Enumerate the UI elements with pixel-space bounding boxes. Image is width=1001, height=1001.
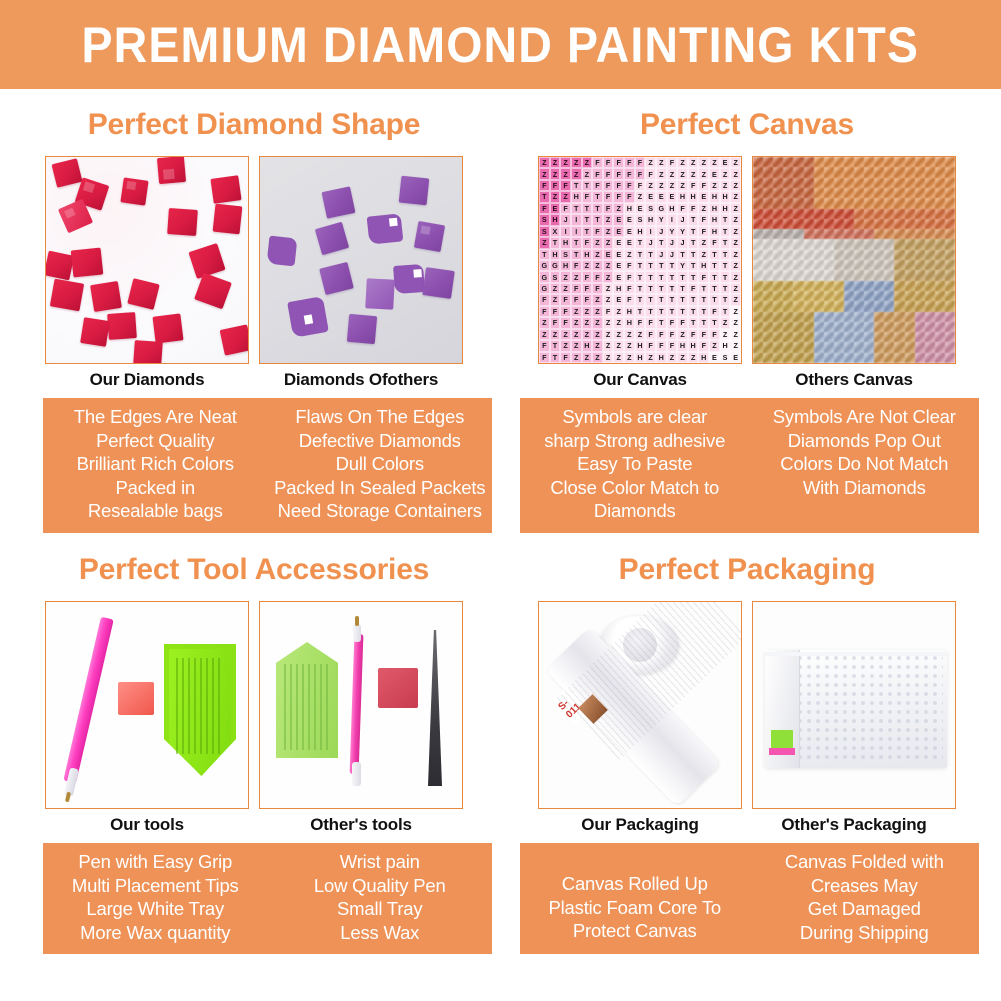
canvas-symbol-cell: Z bbox=[582, 317, 593, 328]
canvas-symbol-cell: Z bbox=[603, 317, 614, 328]
mosaic-cell bbox=[854, 332, 864, 342]
mosaic-cell bbox=[814, 178, 824, 188]
mosaic-cell bbox=[824, 239, 834, 249]
canvas-symbol-cell: S bbox=[539, 226, 550, 237]
mosaic-cell bbox=[763, 209, 773, 219]
mosaic-cell bbox=[814, 250, 824, 260]
mosaic-cell bbox=[905, 209, 915, 219]
canvas-symbol-cell: T bbox=[635, 306, 646, 317]
mosaic-cell bbox=[854, 260, 864, 270]
rolled-tube-art: S-011 bbox=[539, 602, 741, 808]
mosaic-cell bbox=[763, 178, 773, 188]
pen-upper-tip bbox=[353, 624, 361, 642]
mosaic-cell bbox=[793, 209, 803, 219]
mosaic-cell bbox=[824, 167, 834, 177]
mosaic-cell bbox=[763, 291, 773, 301]
canvas-symbol-cell: T bbox=[656, 237, 667, 248]
canvas-symbol-cell: Z bbox=[592, 237, 603, 248]
canvas-symbol-cell: F bbox=[582, 283, 593, 294]
canvas-symbol-cell: T bbox=[709, 317, 720, 328]
canvas-symbol-cell: F bbox=[592, 226, 603, 237]
canvas-symbol-cell: T bbox=[667, 260, 678, 271]
canvas-symbol-cell: F bbox=[698, 329, 709, 340]
canvas-symbol-cell: F bbox=[709, 306, 720, 317]
canvas-symbol-cell: H bbox=[698, 260, 709, 271]
mosaic-cell bbox=[935, 250, 945, 260]
mosaic-cell bbox=[763, 250, 773, 260]
mosaic-cell bbox=[804, 198, 814, 208]
canvas-symbol-cell: J bbox=[667, 237, 678, 248]
mosaic-cell bbox=[915, 167, 925, 177]
canvas-symbol-cell: F bbox=[656, 329, 667, 340]
mosaic-cell bbox=[804, 178, 814, 188]
canvas-symbol-cell: Z bbox=[698, 249, 709, 260]
mosaic-cell bbox=[793, 157, 803, 167]
canvas-symbol-cell: Z bbox=[560, 157, 571, 168]
mosaic-cell bbox=[864, 188, 874, 198]
mosaic-cell bbox=[834, 198, 844, 208]
canvas-symbol-cell: T bbox=[698, 306, 709, 317]
mosaic-cell bbox=[773, 209, 783, 219]
canvas-symbol-cell: Z bbox=[730, 237, 741, 248]
canvas-symbol-cell: Z bbox=[603, 260, 614, 271]
mosaic-cell bbox=[793, 270, 803, 280]
mosaic-cell bbox=[864, 239, 874, 249]
mosaic-cell bbox=[925, 301, 935, 311]
canvas-symbol-cell: Z bbox=[720, 180, 731, 191]
mosaic-cell bbox=[814, 312, 824, 322]
canvas-symbol-cell: J bbox=[677, 237, 688, 248]
canvas-symbol-cell: Z bbox=[603, 283, 614, 294]
canvas-symbol-cell: F bbox=[571, 260, 582, 271]
mosaic-cell bbox=[884, 188, 894, 198]
canvas-symbol-cell: T bbox=[720, 226, 731, 237]
mosaic-cell bbox=[834, 250, 844, 260]
canvas-symbol-cell: Y bbox=[667, 226, 678, 237]
panel-others-points: Canvas Folded withCreases MayGet Damaged… bbox=[750, 850, 980, 944]
canvas-symbol-cell: E bbox=[624, 214, 635, 225]
mosaic-cell bbox=[905, 198, 915, 208]
mosaic-cell bbox=[834, 188, 844, 198]
mosaic-cell bbox=[804, 301, 814, 311]
blurry-mosaic-art bbox=[753, 157, 955, 363]
mosaic-cell bbox=[773, 353, 783, 363]
canvas-symbol-cell: E bbox=[603, 249, 614, 260]
canvas-symbol-cell: Z bbox=[603, 340, 614, 351]
mosaic-cell bbox=[763, 188, 773, 198]
pen-metal-tip bbox=[355, 616, 359, 626]
image-others-diamonds bbox=[259, 156, 463, 364]
canvas-symbol-cell: E bbox=[613, 214, 624, 225]
canvas-symbol-cell: Z bbox=[635, 329, 646, 340]
canvas-symbol-cell: Z bbox=[582, 329, 593, 340]
mosaic-cell bbox=[864, 322, 874, 332]
canvas-symbol-cell: F bbox=[582, 271, 593, 282]
mosaic-cell bbox=[753, 322, 763, 332]
panel-point: Need Storage Containers bbox=[271, 499, 490, 523]
mosaic-cell bbox=[884, 322, 894, 332]
mosaic-cell bbox=[874, 260, 884, 270]
canvas-symbol-cell: H bbox=[582, 249, 593, 260]
canvas-symbol-cell: Z bbox=[571, 157, 582, 168]
mosaic-cell bbox=[864, 332, 874, 342]
mosaic-cell bbox=[945, 270, 955, 280]
canvas-symbol-cell: T bbox=[582, 203, 593, 214]
canvas-symbol-cell: F bbox=[560, 352, 571, 363]
mosaic-cell bbox=[874, 312, 884, 322]
panel-point: Packed in bbox=[46, 476, 265, 500]
canvas-symbol-cell: T bbox=[645, 249, 656, 260]
image-row bbox=[15, 601, 493, 809]
canvas-symbol-cell: H bbox=[613, 283, 624, 294]
panel-point: During Shipping bbox=[753, 921, 977, 945]
canvas-symbol-cell: E bbox=[730, 352, 741, 363]
mosaic-cell bbox=[945, 301, 955, 311]
panel-point: Brilliant Rich Colors bbox=[46, 452, 265, 476]
mosaic-cell bbox=[793, 353, 803, 363]
canvas-symbol-cell: X bbox=[550, 226, 561, 237]
mosaic-cell bbox=[905, 229, 915, 239]
canvas-symbol-cell: T bbox=[688, 271, 699, 282]
canvas-symbol-cell: Z bbox=[624, 352, 635, 363]
canvas-symbol-cell: Z bbox=[539, 168, 550, 179]
mosaic-cell bbox=[804, 188, 814, 198]
canvas-symbol-cell: Z bbox=[560, 271, 571, 282]
caption-row: Our Packaging Other's Packaging bbox=[508, 815, 986, 835]
mosaic-cell bbox=[945, 209, 955, 219]
mosaic-cell bbox=[894, 167, 904, 177]
mosaic-cell bbox=[915, 157, 925, 167]
mosaic-cell bbox=[763, 157, 773, 167]
mosaic-cell bbox=[844, 167, 854, 177]
canvas-symbol-cell: T bbox=[720, 306, 731, 317]
canvas-symbol-cell: T bbox=[698, 294, 709, 305]
mosaic-cell bbox=[915, 188, 925, 198]
canvas-symbol-cell: H bbox=[677, 191, 688, 202]
canvas-symbol-cell: T bbox=[720, 214, 731, 225]
canvas-symbol-cell: Z bbox=[613, 203, 624, 214]
mosaic-cell bbox=[894, 178, 904, 188]
mosaic-cell bbox=[844, 209, 854, 219]
canvas-symbol-cell: J bbox=[560, 214, 571, 225]
canvas-symbol-cell: T bbox=[635, 260, 646, 271]
canvas-symbol-cell: T bbox=[709, 294, 720, 305]
canvas-symbol-cell: Z bbox=[645, 180, 656, 191]
canvas-symbol-cell: H bbox=[624, 317, 635, 328]
mosaic-cell bbox=[824, 250, 834, 260]
mosaic-cell bbox=[935, 270, 945, 280]
canvas-symbol-cell: T bbox=[688, 226, 699, 237]
mosaic-cell bbox=[884, 198, 894, 208]
tweezers bbox=[428, 630, 442, 786]
canvas-symbol-cell: H bbox=[656, 352, 667, 363]
canvas-symbol-cell: S bbox=[635, 214, 646, 225]
mosaic-cell bbox=[874, 270, 884, 280]
bag-contents-green bbox=[771, 730, 793, 750]
mosaic-cell bbox=[793, 219, 803, 229]
mosaic-cell bbox=[763, 342, 773, 352]
mosaic-cell bbox=[925, 178, 935, 188]
canvas-symbol-cell: T bbox=[677, 271, 688, 282]
mosaic-cell bbox=[854, 353, 864, 363]
canvas-symbol-cell: Z bbox=[709, 340, 720, 351]
mosaic-cell bbox=[935, 178, 945, 188]
canvas-symbol-cell: H bbox=[688, 340, 699, 351]
canvas-symbol-cell: F bbox=[560, 203, 571, 214]
mosaic-cell bbox=[884, 312, 894, 322]
panel-others-points: Symbols Are Not ClearDiamonds Pop OutCol… bbox=[750, 405, 980, 523]
canvas-symbol-cell: Z bbox=[677, 180, 688, 191]
panel-point: Resealable bags bbox=[46, 499, 265, 523]
mosaic-cell bbox=[814, 301, 824, 311]
mosaic-cell bbox=[793, 250, 803, 260]
canvas-symbol-cell: Z bbox=[560, 283, 571, 294]
mosaic-cell bbox=[773, 239, 783, 249]
mosaic-cell bbox=[804, 270, 814, 280]
mosaic-cell bbox=[753, 260, 763, 270]
mosaic-cell bbox=[925, 342, 935, 352]
mosaic-cell bbox=[894, 270, 904, 280]
mosaic-cell bbox=[814, 198, 824, 208]
canvas-symbol-cell: Y bbox=[677, 260, 688, 271]
mosaic-cell bbox=[844, 342, 854, 352]
mosaic-cell bbox=[915, 239, 925, 249]
mosaic-cell bbox=[834, 322, 844, 332]
canvas-symbol-cell: E bbox=[635, 203, 646, 214]
canvas-symbol-cell: Z bbox=[539, 329, 550, 340]
mosaic-cell bbox=[824, 229, 834, 239]
mosaic-cell bbox=[864, 260, 874, 270]
canvas-symbol-cell: T bbox=[688, 214, 699, 225]
canvas-symbol-cell: Z bbox=[688, 157, 699, 168]
mosaic-cell bbox=[894, 291, 904, 301]
panel-our-points: Canvas Rolled UpPlastic Foam Core ToProt… bbox=[520, 850, 750, 944]
mosaic-cell bbox=[793, 167, 803, 177]
canvas-symbol-cell: Z bbox=[677, 329, 688, 340]
mosaic-cell bbox=[884, 209, 894, 219]
panel-point: Low Quality Pen bbox=[271, 874, 490, 898]
panel-point: Plastic Foam Core To bbox=[523, 896, 747, 920]
canvas-symbol-cell: F bbox=[539, 294, 550, 305]
mosaic-cell bbox=[894, 353, 904, 363]
mosaic-cell bbox=[783, 291, 793, 301]
mosaic-cell bbox=[824, 219, 834, 229]
canvas-symbol-cell: H bbox=[709, 203, 720, 214]
canvas-symbol-cell: T bbox=[571, 203, 582, 214]
mosaic-cell bbox=[844, 322, 854, 332]
mosaic-cell bbox=[905, 260, 915, 270]
canvas-symbol-cell: F bbox=[698, 226, 709, 237]
pen-lower-cap bbox=[352, 762, 361, 786]
canvas-symbol-cell: H bbox=[582, 340, 593, 351]
panel-point: The Edges Are Neat bbox=[46, 405, 265, 429]
mosaic-cell bbox=[884, 157, 894, 167]
canvas-symbol-cell: Z bbox=[592, 249, 603, 260]
mosaic-cell bbox=[804, 342, 814, 352]
canvas-symbol-cell: Z bbox=[688, 168, 699, 179]
caption-our: Our Packaging bbox=[538, 815, 742, 835]
mosaic-cell bbox=[945, 239, 955, 249]
canvas-symbol-cell: T bbox=[645, 283, 656, 294]
mosaic-cell bbox=[824, 157, 834, 167]
mosaic-cell bbox=[844, 281, 854, 291]
canvas-symbol-cell: Z bbox=[571, 168, 582, 179]
canvas-symbol-cell: Z bbox=[677, 157, 688, 168]
canvas-symbol-cell: I bbox=[560, 226, 571, 237]
canvas-symbol-cell: Z bbox=[656, 180, 667, 191]
mosaic-cell bbox=[834, 291, 844, 301]
mosaic-cell bbox=[884, 342, 894, 352]
mosaic-cell bbox=[925, 239, 935, 249]
mosaic-cell bbox=[793, 342, 803, 352]
mosaic-cell bbox=[753, 219, 763, 229]
mosaic-cell bbox=[824, 353, 834, 363]
mosaic-cell bbox=[915, 281, 925, 291]
mosaic-cell bbox=[915, 250, 925, 260]
mosaic-cell bbox=[773, 188, 783, 198]
image-row bbox=[15, 156, 493, 364]
mosaic-cell bbox=[935, 260, 945, 270]
mosaic-cell bbox=[905, 188, 915, 198]
canvas-symbol-cell: J bbox=[677, 214, 688, 225]
mosaic-cell bbox=[864, 291, 874, 301]
canvas-symbol-cell: F bbox=[603, 191, 614, 202]
mosaic-cell bbox=[763, 239, 773, 249]
mosaic-cell bbox=[894, 239, 904, 249]
mosaic-cell bbox=[925, 281, 935, 291]
mosaic-cell bbox=[945, 353, 955, 363]
mosaic-cell bbox=[884, 301, 894, 311]
mosaic-cell bbox=[945, 219, 955, 229]
canvas-symbol-cell: T bbox=[709, 260, 720, 271]
mosaic-cell bbox=[925, 157, 935, 167]
canvas-symbol-cell: E bbox=[613, 249, 624, 260]
mosaic-cell bbox=[824, 322, 834, 332]
canvas-symbol-cell: J bbox=[667, 249, 678, 260]
bag-contents-pink bbox=[769, 748, 795, 755]
mosaic-cell bbox=[753, 353, 763, 363]
panel-point: Canvas Folded with bbox=[753, 850, 977, 874]
mosaic-cell bbox=[905, 301, 915, 311]
canvas-symbol-cell: T bbox=[709, 271, 720, 282]
mosaic-cell bbox=[834, 219, 844, 229]
mosaic-cell bbox=[945, 260, 955, 270]
mosaic-cell bbox=[814, 332, 824, 342]
canvas-symbol-cell: Z bbox=[613, 340, 624, 351]
mosaic-cell bbox=[874, 167, 884, 177]
canvas-symbol-cell: H bbox=[720, 340, 731, 351]
mosaic-cell bbox=[753, 270, 763, 280]
mosaic-cell bbox=[773, 312, 783, 322]
mosaic-cell bbox=[793, 281, 803, 291]
canvas-symbol-cell: Z bbox=[592, 329, 603, 340]
mosaic-cell bbox=[824, 260, 834, 270]
mosaic-cell bbox=[925, 270, 935, 280]
canvas-symbol-cell: Z bbox=[603, 352, 614, 363]
mosaic-cell bbox=[793, 229, 803, 239]
canvas-symbol-cell: Z bbox=[667, 180, 678, 191]
canvas-symbol-cell: Z bbox=[645, 352, 656, 363]
mosaic-cell bbox=[884, 219, 894, 229]
mosaic-cell bbox=[773, 322, 783, 332]
mosaic-cell bbox=[824, 198, 834, 208]
mosaic-cell bbox=[763, 229, 773, 239]
canvas-symbol-cell: F bbox=[603, 180, 614, 191]
canvas-symbol-cell: H bbox=[667, 203, 678, 214]
mosaic-cell bbox=[945, 332, 955, 342]
mosaic-cell bbox=[814, 322, 824, 332]
mosaic-cell bbox=[824, 301, 834, 311]
panel-point: Close Color Match to bbox=[523, 476, 747, 500]
mosaic-cell bbox=[814, 157, 824, 167]
mosaic-cell bbox=[874, 219, 884, 229]
mosaic-cell bbox=[824, 291, 834, 301]
canvas-symbol-cell: F bbox=[635, 157, 646, 168]
mosaic-cell bbox=[783, 188, 793, 198]
mosaic-cell bbox=[894, 198, 904, 208]
canvas-symbol-cell: F bbox=[592, 168, 603, 179]
canvas-symbol-cell: F bbox=[645, 340, 656, 351]
canvas-symbol-cell: T bbox=[635, 283, 646, 294]
canvas-symbol-cell: F bbox=[688, 203, 699, 214]
canvas-symbol-cell: F bbox=[592, 180, 603, 191]
caption-row: Our Canvas Others Canvas bbox=[508, 370, 986, 390]
canvas-symbol-cell: Z bbox=[592, 260, 603, 271]
mosaic-cell bbox=[854, 229, 864, 239]
mosaic-cell bbox=[894, 188, 904, 198]
panel-point: Symbols Are Not Clear bbox=[753, 405, 977, 429]
mosaic-cell bbox=[844, 332, 854, 342]
mosaic-cell bbox=[935, 342, 945, 352]
mosaic-cell bbox=[864, 178, 874, 188]
canvas-symbol-cell: J bbox=[645, 237, 656, 248]
mosaic-cell bbox=[874, 250, 884, 260]
mosaic-cell bbox=[935, 157, 945, 167]
image-row: S-011 bbox=[508, 601, 986, 809]
canvas-symbol-cell: Z bbox=[720, 329, 731, 340]
mosaic-cell bbox=[824, 281, 834, 291]
canvas-symbol-cell: S bbox=[720, 352, 731, 363]
canvas-symbol-cell: Z bbox=[560, 340, 571, 351]
canvas-symbol-cell: F bbox=[603, 168, 614, 179]
caption-others: Other's Packaging bbox=[752, 815, 956, 835]
mosaic-cell bbox=[834, 229, 844, 239]
canvas-symbol-cell: T bbox=[645, 271, 656, 282]
canvas-symbol-cell: S bbox=[645, 203, 656, 214]
panel-our-points: Symbols are clearsharp Strong adhesiveEa… bbox=[520, 405, 750, 523]
canvas-symbol-cell: G bbox=[539, 283, 550, 294]
mosaic-cell bbox=[915, 209, 925, 219]
mosaic-cell bbox=[945, 229, 955, 239]
comparison-panel: Symbols are clearsharp Strong adhesiveEa… bbox=[520, 398, 979, 533]
image-our-diamonds bbox=[45, 156, 249, 364]
mosaic-cell bbox=[834, 260, 844, 270]
canvas-symbol-cell: H bbox=[560, 260, 571, 271]
mosaic-cell bbox=[854, 157, 864, 167]
caption-our: Our Diamonds bbox=[45, 370, 249, 390]
section-title: Perfect Canvas bbox=[508, 95, 986, 140]
mosaic-cell bbox=[844, 260, 854, 270]
mosaic-cell bbox=[753, 229, 763, 239]
panel-point: Canvas Rolled Up bbox=[523, 872, 747, 896]
caption-our: Our tools bbox=[45, 815, 249, 835]
mosaic-cell bbox=[793, 291, 803, 301]
mosaic-cell bbox=[783, 178, 793, 188]
canvas-symbol-cell: Z bbox=[613, 306, 624, 317]
canvas-symbol-cell: T bbox=[645, 260, 656, 271]
canvas-symbol-cell: T bbox=[688, 249, 699, 260]
canvas-symbol-cell: T bbox=[709, 249, 720, 260]
